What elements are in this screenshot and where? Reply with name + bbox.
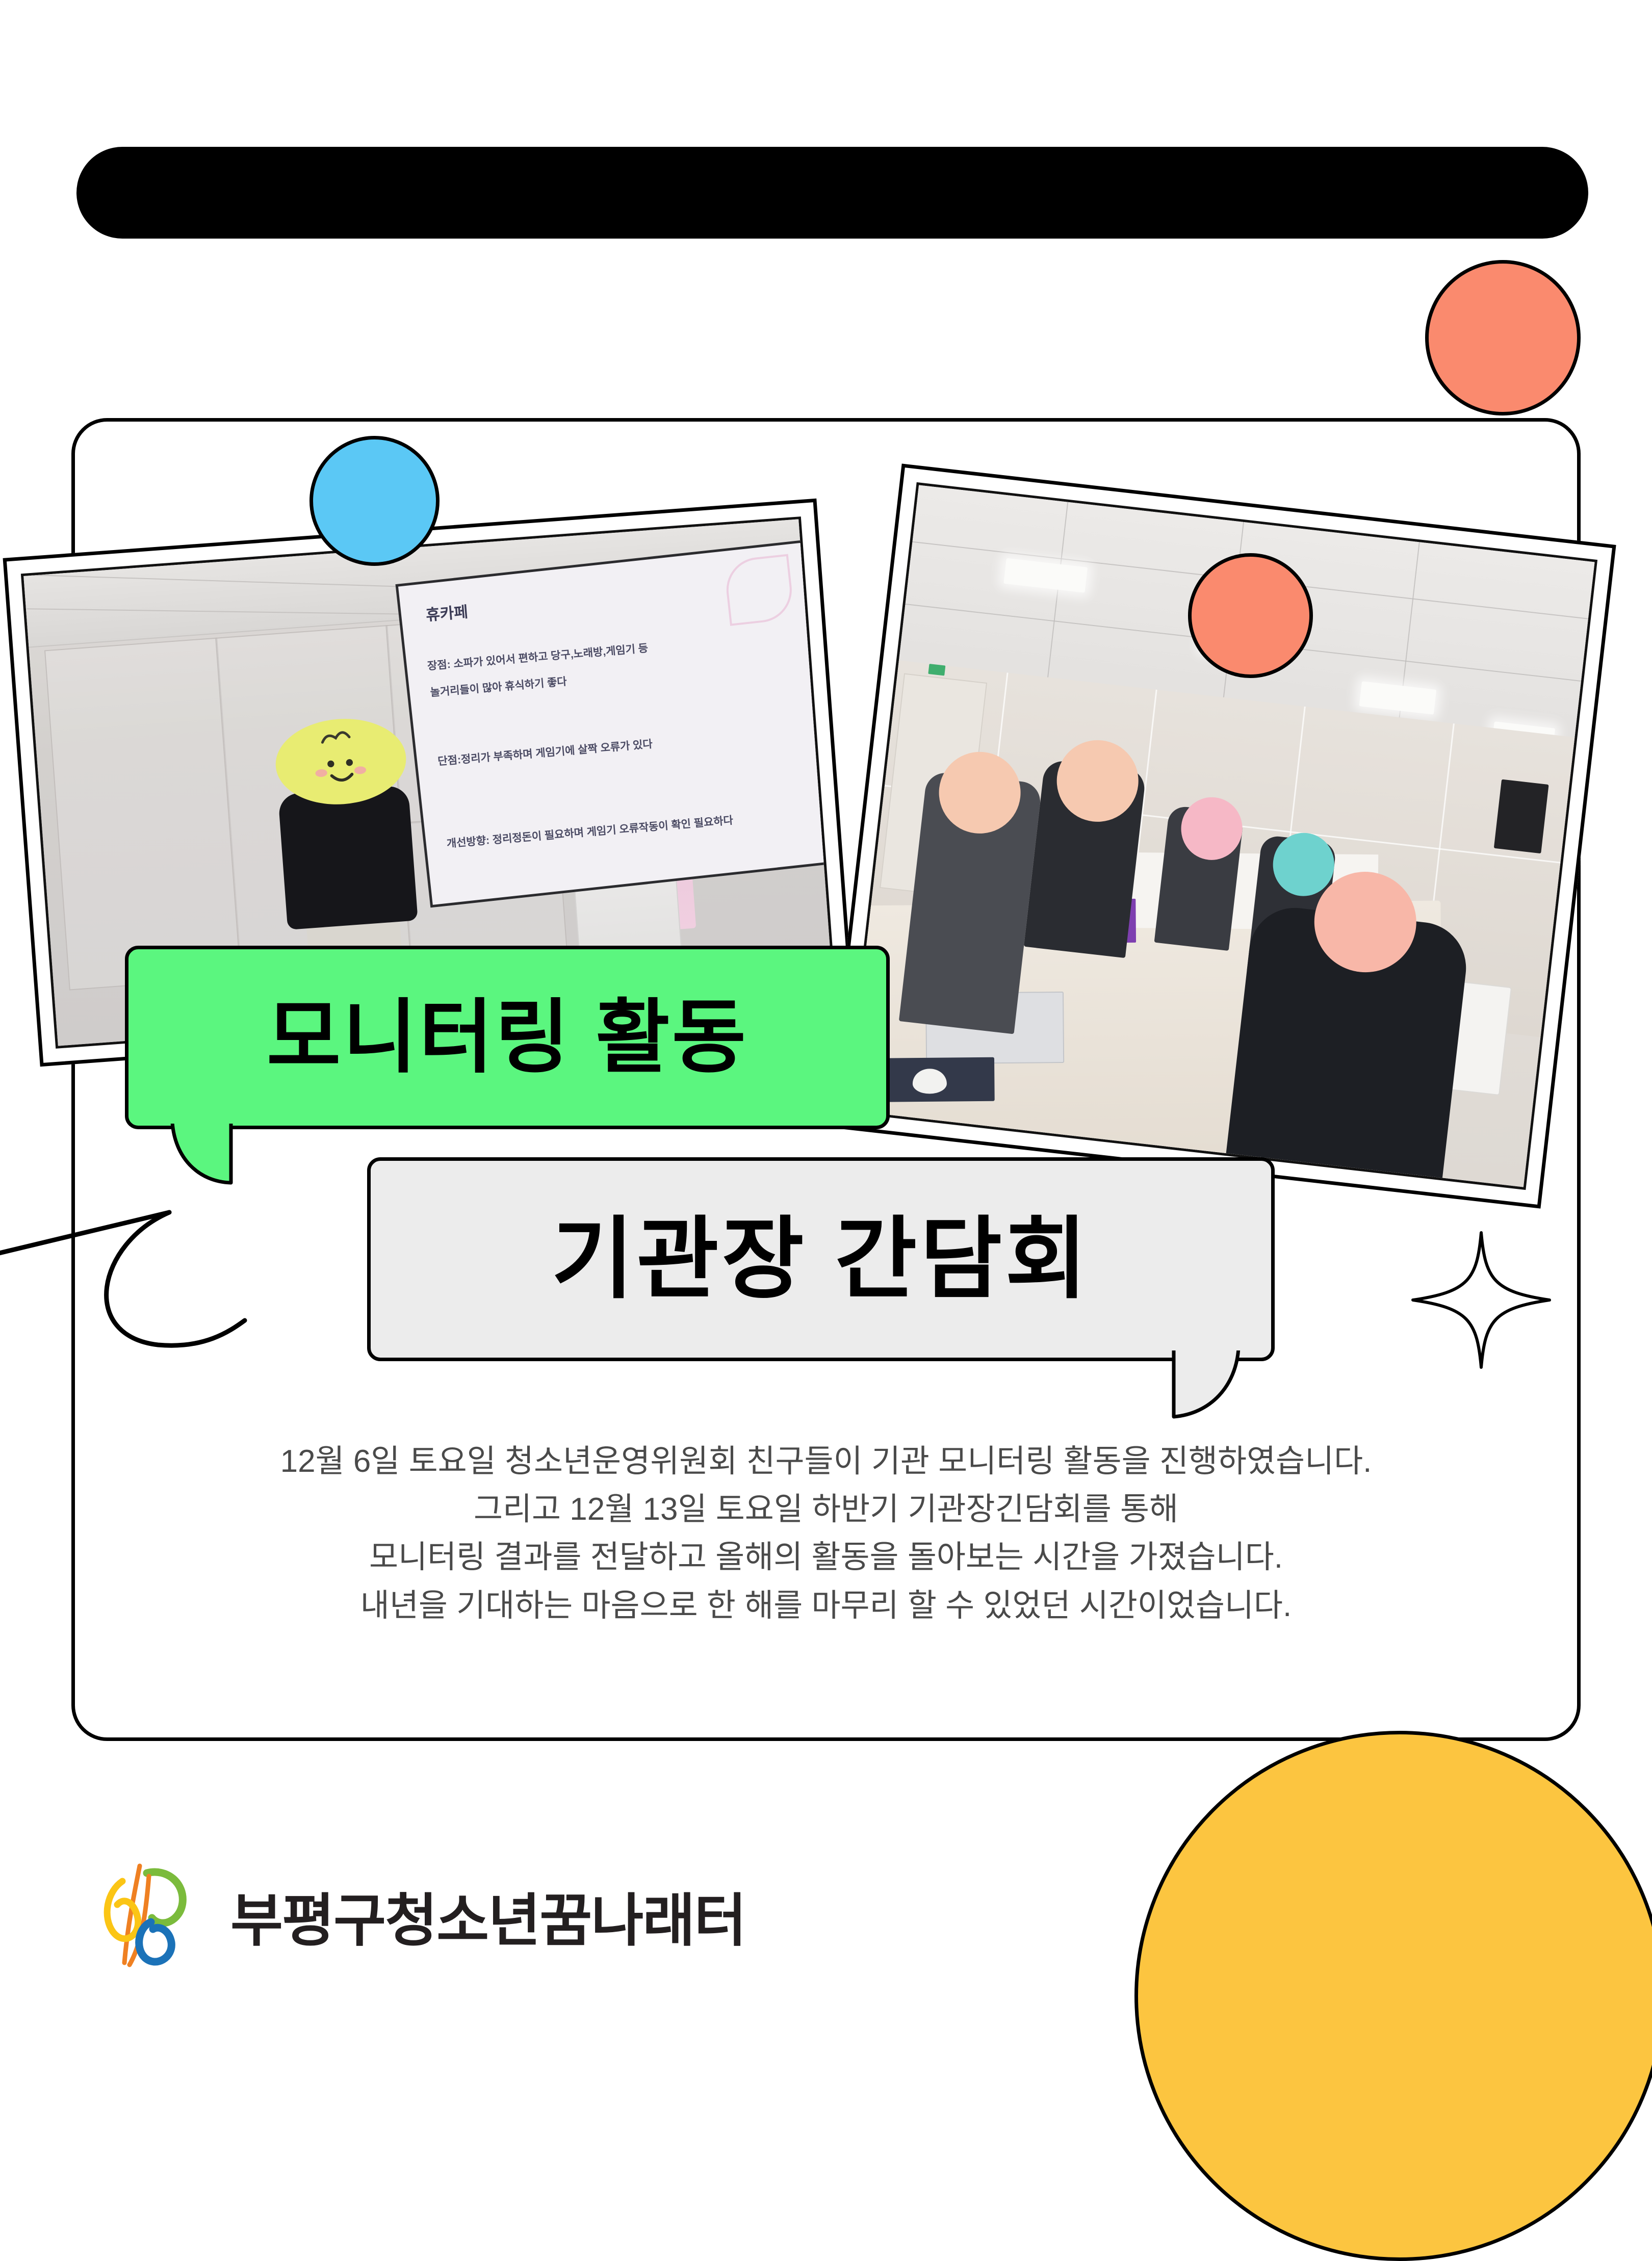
top-banner	[76, 147, 1588, 239]
flower-decoration-icon	[723, 554, 795, 626]
body-line: 내년을 기대하는 마음으로 한 해를 마무리 할 수 있었던 시간이었습니다.	[102, 1582, 1550, 1630]
decor-circle-orange-top	[1425, 260, 1581, 415]
bubble-green-tail	[170, 1122, 246, 1188]
organization-logo-icon	[102, 1861, 209, 1970]
body-line: 모니터링 결과를 전달하고 올해의 활동을 돌아보는 시간을 가졌습니다.	[102, 1534, 1550, 1581]
footer-logo: 부평구청소년꿈나래터	[102, 1861, 745, 1970]
sparkle-icon	[1405, 1224, 1558, 1376]
bubble-monitoring-activity: 모니터링 활동	[125, 946, 890, 1129]
bubble-director-meeting: 기관장 간담회	[367, 1157, 1275, 1361]
exit-sign-icon	[928, 664, 945, 675]
bubble-gray-tail	[1154, 1348, 1241, 1422]
organization-name: 부평구청소년꿈나래터	[230, 1875, 745, 1957]
projection-screen: 휴카페 장점: 소파가 있어서 편하고 당구,노래방,게임기 등 놀거리들이 많…	[395, 539, 836, 908]
slide-line: 놀거리들이 많아 휴식하기 좋다	[430, 673, 567, 700]
body-paragraph: 12월 6일 토요일 청소년운영위원회 친구들이 기관 모니터링 활동을 진행하…	[102, 1438, 1550, 1630]
slide-line: 단점:정리가 부족하며 게임기에 살짝 오류가 있다	[437, 736, 653, 769]
swoosh-line-icon	[0, 1183, 306, 1387]
body-line: 그리고 12월 13일 토요일 하반기 기관장긴담회를 통해	[102, 1486, 1550, 1534]
slide-line: 개선방향: 정리정돈이 필요하며 게임기 오류작동이 확인 필요하다	[446, 812, 734, 851]
bubble-green-label: 모니터링 활동	[267, 997, 748, 1078]
slide-line: 장점: 소파가 있어서 편하고 당구,노래방,게임기 등	[427, 640, 649, 673]
bubble-gray-label: 기관장 간담회	[552, 1215, 1091, 1304]
decor-circle-blue	[309, 436, 440, 566]
body-line: 12월 6일 토요일 청소년운영위원회 친구들이 기관 모니터링 활동을 진행하…	[102, 1438, 1550, 1486]
decor-circle-yellow	[1134, 1731, 1652, 2261]
wall-speaker	[1493, 779, 1548, 853]
slide-title: 휴카페	[425, 599, 469, 625]
computer-mouse	[913, 1069, 947, 1094]
wall-panel	[44, 637, 242, 990]
smiley-face-sticker-icon	[273, 715, 409, 809]
decor-circle-orange-mid	[1188, 553, 1313, 678]
